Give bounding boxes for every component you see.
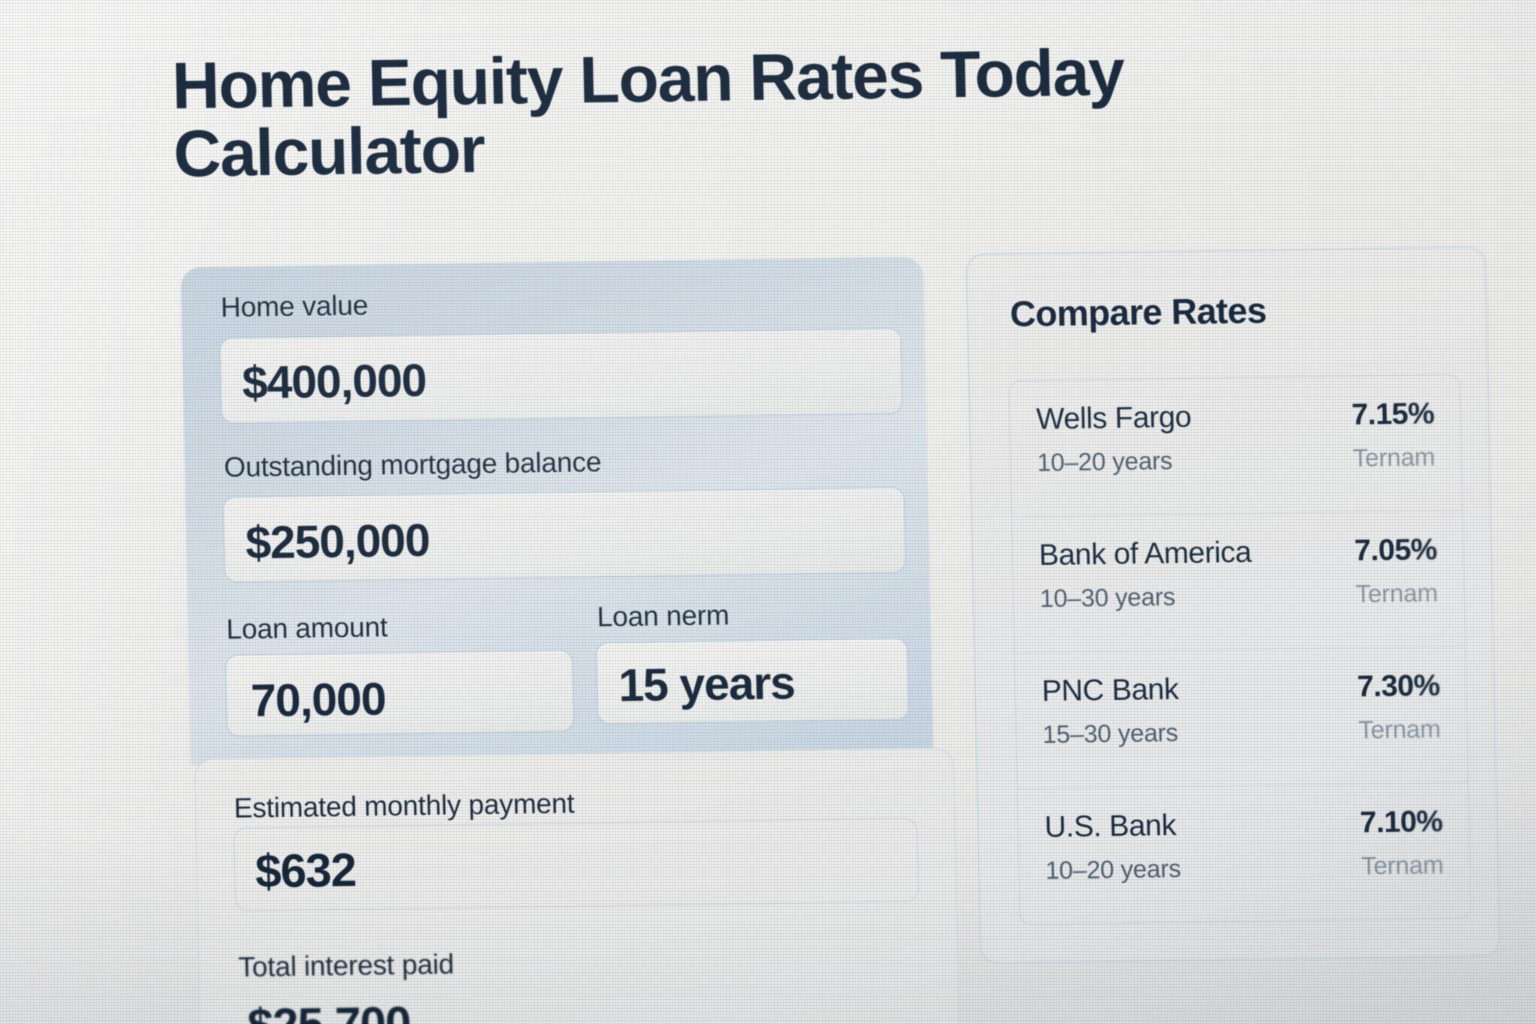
bank-rate: 7.05% (1354, 533, 1437, 568)
outstanding-mortgage-balance-input-value[interactable]: $250,000 (245, 513, 430, 570)
loan-amount-label: Loan amount (226, 611, 388, 645)
list-item[interactable]: PNC Bank 7.30% 15–30 years Ternam (1015, 647, 1468, 789)
bank-name: Bank of America (1039, 536, 1252, 573)
home-value-label: Home value (220, 290, 368, 324)
monitor-photograph: Home Equity Loan Rates Today Calculator … (0, 0, 1536, 1024)
bank-term: 10–20 years (1045, 855, 1181, 886)
bank-term: 10–30 years (1040, 583, 1176, 614)
estimated-monthly-payment-value: $632 (255, 842, 357, 898)
bank-rate: 7.30% (1357, 669, 1440, 704)
webpage-content: Home Equity Loan Rates Today Calculator … (0, 0, 1536, 1024)
bank-name: U.S. Bank (1044, 809, 1176, 845)
bank-term: 15–30 years (1042, 719, 1178, 750)
list-item[interactable]: Wells Fargo 7.15% 10–20 years Ternam (1009, 375, 1462, 517)
bank-name: PNC Bank (1041, 673, 1179, 709)
home-value-input-value[interactable]: $400,000 (242, 353, 427, 410)
loan-amount-input-value[interactable]: 70,000 (250, 671, 386, 727)
total-interest-paid-value: $25,700 (247, 995, 411, 1024)
page-title: Home Equity Loan Rates Today Calculator (171, 37, 1274, 189)
total-interest-paid-label: Total interest paid (238, 949, 454, 984)
bank-note: Ternam (1355, 579, 1438, 609)
bank-term: 10–20 years (1037, 447, 1173, 478)
bank-rate: 7.15% (1351, 397, 1434, 432)
bank-rate: 7.10% (1360, 805, 1443, 840)
bank-note: Ternam (1361, 851, 1444, 881)
list-item[interactable]: Bank of America 7.05% 10–30 years Ternam (1012, 511, 1465, 653)
loan-term-input-value[interactable]: 15 years (618, 656, 795, 713)
bank-name: Wells Fargo (1036, 401, 1192, 437)
outstanding-mortgage-balance-label: Outstanding mortgage balance (224, 446, 602, 483)
loan-term-label: Loan nerm (597, 599, 730, 633)
monitor-screen: Home Equity Loan Rates Today Calculator … (0, 0, 1536, 1024)
bank-note: Ternam (1358, 715, 1441, 745)
compare-rates-title: Compare Rates (1010, 290, 1267, 336)
estimated-monthly-payment-label: Estimated monthly payment (234, 788, 575, 825)
bank-note: Ternam (1353, 443, 1436, 473)
compare-rates-list: Wells Fargo 7.15% 10–20 years Ternam Ban… (1008, 374, 1471, 925)
list-item[interactable]: U.S. Bank 7.10% 10–20 years Ternam (1018, 783, 1471, 925)
